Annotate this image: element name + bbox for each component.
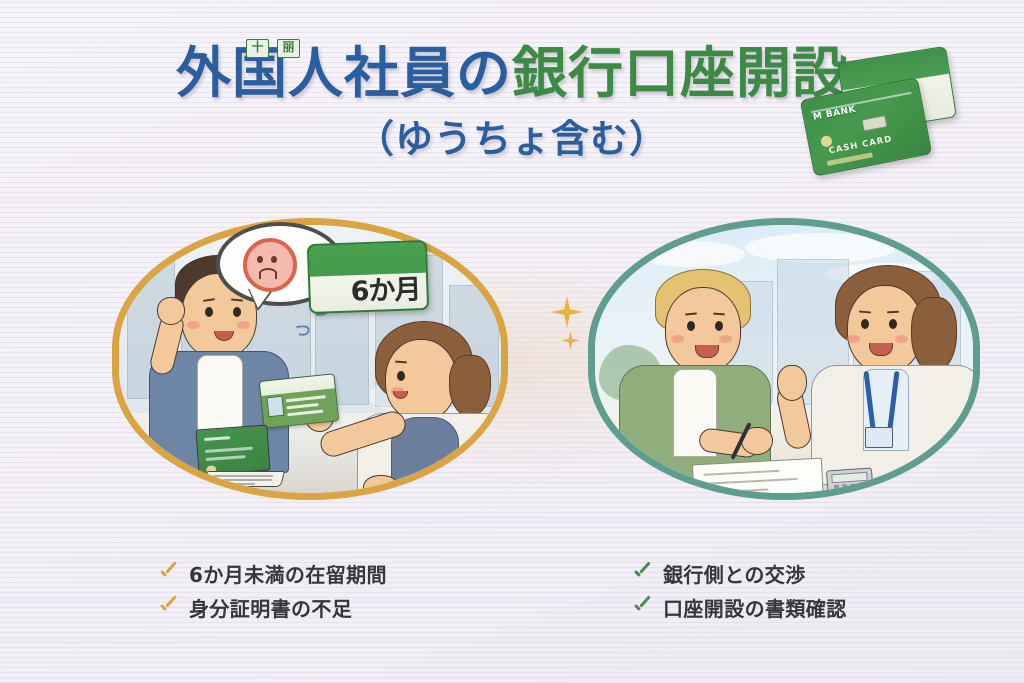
check-icon [158, 563, 178, 583]
bullet-list-six-month-problem: 6か月未満の在留期間 身分証明書の不足 [158, 556, 387, 624]
sparkle-large-icon [551, 296, 583, 328]
title-part-blue: 外国人社員の [176, 41, 512, 105]
check-icon [632, 597, 652, 617]
bullet-label: 身分証明書の不足 [189, 593, 352, 622]
list-item: 6か月未満の在留期間 [158, 556, 387, 590]
calculator-icon [826, 467, 874, 493]
residence-card-icon [259, 373, 340, 429]
bank-card-type: CASH CARD [828, 134, 893, 156]
title-part-green: 銀行口座開設 [512, 41, 848, 105]
bullet-list-company-support: 銀行側との交渉 口座開設の書類確認 [632, 556, 847, 624]
bank-cards-decoration: M BANK CASH CARD [800, 52, 980, 167]
infographic-poster: 外国人社員の銀行口座開設 （ゆうちょ含む） M BANK CASH CARD [0, 0, 1024, 683]
bullet-label: 6か月未満の在留期間 [189, 559, 387, 588]
six-month-sign: 6か月 [307, 240, 429, 314]
mini-kanji-right: 丽 [277, 39, 300, 58]
bank-card-front: M BANK CASH CARD [800, 77, 933, 176]
panel-company-support: 会社のサポート [588, 218, 980, 500]
mini-kanji-left: 十 [246, 39, 269, 58]
sparkle-small-icon [561, 331, 580, 350]
card-chip-icon [862, 115, 888, 131]
id-badge-icon [865, 427, 893, 448]
scene-illustration-right [588, 218, 980, 500]
list-item: 口座開設の書類確認 [632, 590, 847, 624]
check-icon [158, 597, 178, 617]
document-paper [692, 458, 824, 493]
list-item: 銀行側との交渉 [632, 556, 847, 590]
bullet-label: 口座開設の書類確認 [663, 593, 847, 622]
six-month-sign-label: 6か月 [310, 267, 421, 310]
bullet-label: 銀行側との交渉 [663, 559, 806, 588]
sad-face-icon [243, 238, 297, 292]
check-icon [632, 563, 652, 583]
list-item: 身分証明書の不足 [158, 590, 387, 624]
